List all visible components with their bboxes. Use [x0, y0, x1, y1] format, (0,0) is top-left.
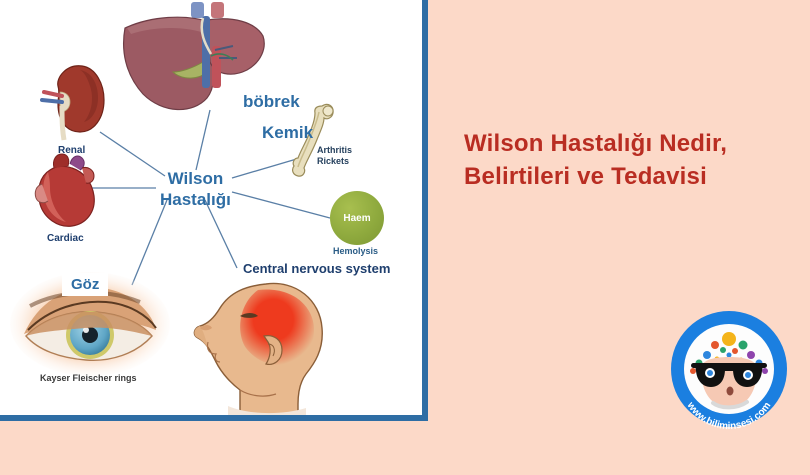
page-title: Wilson Hastalığı Nedir, Belirtileri ve T… — [464, 127, 794, 193]
page-title-line2: Belirtileri ve Tedavisi — [464, 160, 794, 193]
diagram-center-node: Wilson Hastalığı — [160, 168, 231, 210]
head-icon — [188, 278, 353, 418]
node-sublabel-kayser-fleischer: Kayser Fleischer rings — [40, 373, 137, 383]
node-label-goz: Göz — [62, 273, 108, 296]
node-label-bobrek: böbrek — [243, 92, 300, 112]
node-sublabel-hemolysis: Hemolysis — [333, 246, 378, 256]
page-root: Renal Cardiac Arthritis Rickets — [0, 0, 810, 475]
wilson-disease-diagram-panel: Renal Cardiac Arthritis Rickets — [0, 0, 428, 421]
node-label-cns: Central nervous system — [243, 261, 390, 276]
kidney-icon — [36, 62, 108, 144]
page-title-line1: Wilson Hastalığı Nedir, — [464, 127, 794, 160]
node-sublabel-arthritis: Arthritis Rickets — [317, 145, 352, 167]
center-node-line2: Hastalığı — [160, 190, 231, 209]
node-label-kemik: Kemik — [262, 123, 313, 143]
node-label-haem: Haem — [343, 213, 370, 224]
site-logo[interactable]: www.biliminsesi.com — [663, 303, 795, 435]
node-label-cardiac: Cardiac — [47, 233, 84, 244]
heart-icon — [28, 150, 104, 234]
center-node-line1: Wilson — [168, 169, 224, 188]
haem-circle-icon: Haem — [330, 191, 384, 245]
